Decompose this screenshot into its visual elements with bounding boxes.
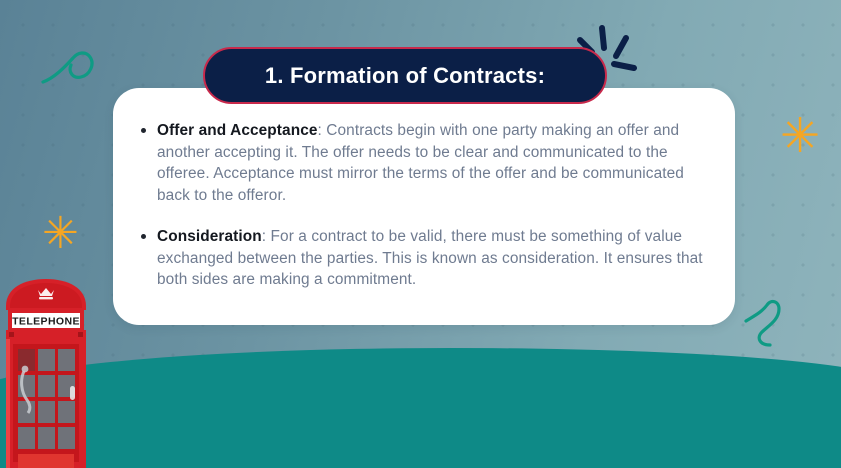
asterisk-right-icon: ✳	[780, 112, 820, 160]
content-card-body: Offer and Acceptance: Contracts begin wi…	[135, 120, 709, 291]
slide-canvas: ✳ ✳ Offer and Acceptance: Contracts begi…	[0, 0, 841, 468]
bullet-separator: :	[318, 122, 327, 139]
slide-title-pill: 1. Formation of Contracts:	[203, 47, 607, 104]
telephone-sign-label: TELEPHONE	[12, 315, 80, 327]
bullet-lead-label: Consideration	[157, 228, 262, 245]
bottom-band-fill	[0, 398, 841, 468]
bullet-list: Offer and Acceptance: Contracts begin wi…	[135, 120, 709, 291]
page-title: 1. Formation of Contracts:	[265, 63, 545, 89]
list-item: Consideration: For a contract to be vali…	[157, 226, 709, 291]
list-item: Offer and Acceptance: Contracts begin wi…	[157, 120, 709, 206]
telephone-box-illustration: TELEPHONE	[0, 276, 92, 468]
asterisk-left-icon: ✳	[42, 212, 79, 256]
squiggle-loop-right-icon	[742, 296, 788, 352]
bullet-lead-label: Offer and Acceptance	[157, 122, 318, 139]
squiggle-loop-left-icon	[40, 44, 100, 92]
content-card: Offer and Acceptance: Contracts begin wi…	[113, 88, 735, 325]
bullet-separator: :	[262, 228, 271, 245]
